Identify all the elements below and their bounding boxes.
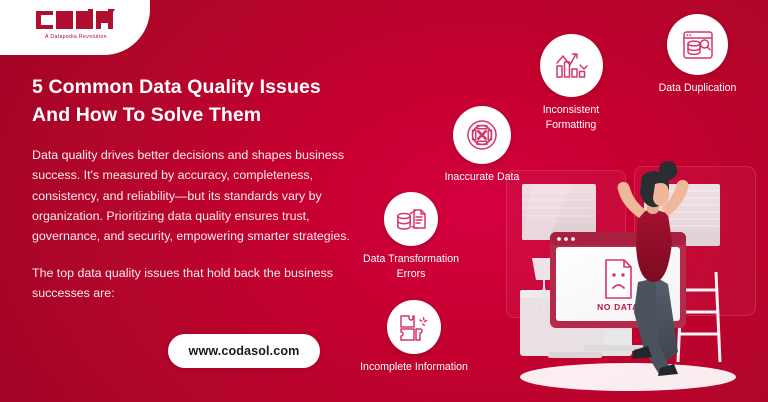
issue-label: Incomplete Information [340, 360, 488, 375]
database-to-document-icon [384, 192, 438, 246]
banner-root: NO DATA [0, 0, 768, 402]
coda-wordmark-icon [35, 9, 117, 31]
issue-data-duplication[interactable]: Data Duplication [630, 14, 765, 96]
logo-tagline: A Datapedia Revolution [45, 34, 107, 40]
database-window-search-icon [667, 14, 728, 75]
issue-label: Inaccurate Data [420, 170, 544, 185]
illustration-svg: NO DATA [492, 154, 768, 402]
body-paragraph: Data quality drives better decisions and… [32, 145, 362, 245]
logo[interactable]: A Datapedia Revolution [28, 9, 124, 40]
bar-chart-trend-icon [540, 34, 603, 97]
issue-incomplete-information[interactable]: Incomplete Information [340, 300, 488, 375]
x-cross-gear-icon [453, 106, 511, 164]
issue-data-transformation-errors[interactable]: Data Transformation Errors [348, 192, 474, 281]
issue-inaccurate-data[interactable]: Inaccurate Data [420, 106, 544, 185]
issue-label: Data Transformation Errors [348, 252, 474, 281]
window-blinds-icon [522, 184, 596, 240]
issue-label: Data Duplication [630, 81, 765, 96]
copy-column: 5 Common Data Quality Issues And How To … [32, 74, 362, 303]
page-title: 5 Common Data Quality Issues And How To … [32, 74, 362, 129]
illustration-area: NO DATA [492, 154, 768, 402]
floor-shadow [520, 363, 736, 391]
kicker-text: The top data quality issues that hold ba… [32, 263, 362, 303]
website-url-button[interactable]: www.codasol.com [168, 334, 320, 368]
sad-face-document-icon [606, 260, 631, 298]
puzzle-missing-piece-icon [387, 300, 441, 354]
screen-message: NO DATA [597, 302, 639, 312]
